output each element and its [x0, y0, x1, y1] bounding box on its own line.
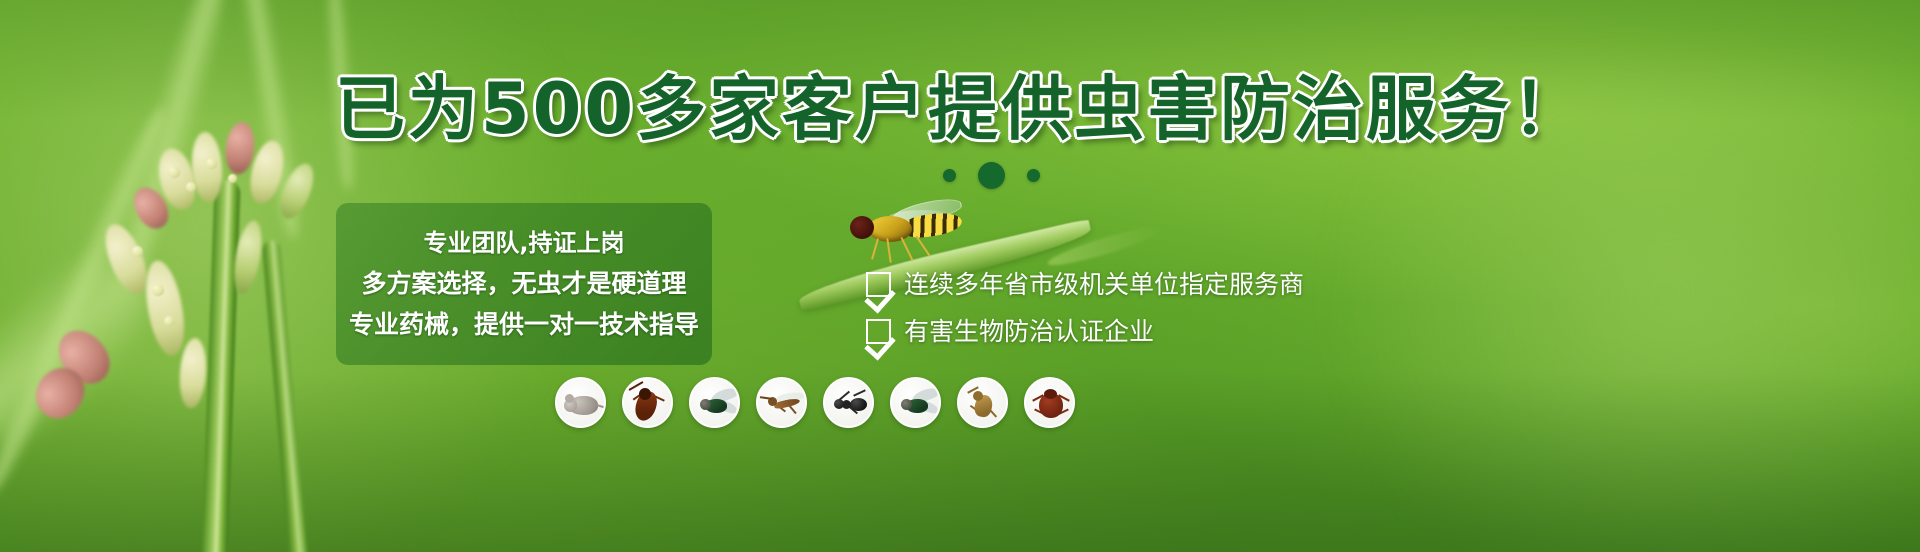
- plant-detail: [164, 316, 174, 326]
- ant-icon[interactable]: [823, 377, 874, 428]
- selling-point-line: 多方案选择，无虫才是硬道理: [361, 271, 686, 296]
- plant-stem: [262, 240, 309, 552]
- checkbox-checked-icon: [866, 319, 891, 344]
- checklist-item: 有害生物防治认证企业: [866, 319, 1304, 344]
- checklist-item-label: 有害生物防治认证企业: [904, 319, 1154, 344]
- mouse-icon[interactable]: [555, 377, 606, 428]
- cockroach-icon[interactable]: [622, 377, 673, 428]
- plant-bud: [178, 337, 209, 409]
- mosquito-icon[interactable]: [756, 377, 807, 428]
- hoverfly-icon: [840, 198, 970, 258]
- selling-points-text: 专业团队,持证上岗 多方案选择，无虫才是硬道理 专业药械，提供一对一技术指导: [336, 203, 712, 365]
- banner-headline: 已为500多家客户提供虫害防治服务！: [0, 74, 1920, 144]
- dot-small-icon: [1027, 169, 1040, 182]
- checklist-item-label: 连续多年省市级机关单位指定服务商: [904, 272, 1304, 297]
- flea-icon[interactable]: [957, 377, 1008, 428]
- selling-point-line: 专业团队,持证上岗: [423, 231, 624, 255]
- pest-icon-row: [555, 377, 1075, 428]
- selling-point-line: 专业药械，提供一对一技术指导: [349, 312, 699, 337]
- dot-small-icon: [943, 169, 956, 182]
- checklist-item: 连续多年省市级机关单位指定服务商: [866, 272, 1304, 297]
- fly-icon[interactable]: [689, 377, 740, 428]
- checkbox-checked-icon: [866, 272, 891, 297]
- promo-banner: 已为500多家客户提供虫害防治服务！ 专业团队,持证上岗 多方案选择，无虫才是硬…: [0, 0, 1920, 552]
- credentials-checklist: 连续多年省市级机关单位指定服务商 有害生物防治认证企业: [866, 272, 1304, 344]
- dot-large-icon: [978, 162, 1005, 189]
- blowfly-icon[interactable]: [890, 377, 941, 428]
- plant-detail: [132, 246, 143, 257]
- plant-stem: [201, 180, 240, 552]
- plant-bud: [140, 258, 190, 358]
- bedbug-icon[interactable]: [1024, 377, 1075, 428]
- plant-detail: [152, 284, 164, 296]
- decorative-dots: [0, 162, 1920, 189]
